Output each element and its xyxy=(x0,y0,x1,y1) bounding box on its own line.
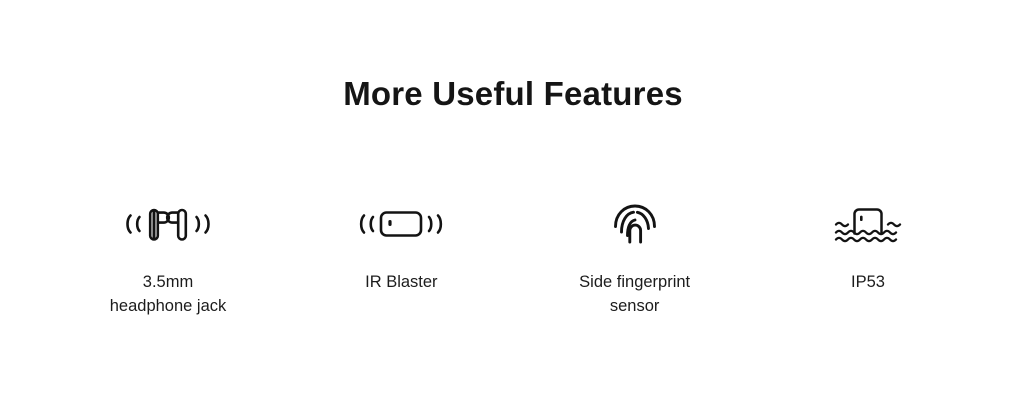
feature-highlights-section: More Useful Features xyxy=(0,0,1026,407)
feature-item-ip53: IP53 xyxy=(773,196,963,294)
fingerprint-icon xyxy=(610,196,660,252)
page-title: More Useful Features xyxy=(0,72,1026,116)
feature-item-ir-blaster: IR Blaster xyxy=(306,196,496,294)
earbuds-waves-icon xyxy=(118,196,218,252)
ir-blaster-remote-waves-icon xyxy=(356,196,446,252)
feature-list: 3.5mm headphone jack IR Blaster xyxy=(63,196,963,318)
feature-label: IP53 xyxy=(851,270,885,294)
feature-label: Side fingerprint sensor xyxy=(579,270,690,318)
feature-item-fingerprint: Side fingerprint sensor xyxy=(530,196,740,318)
phone-water-waves-icon xyxy=(832,196,904,252)
feature-item-headphone-jack: 3.5mm headphone jack xyxy=(63,196,273,318)
feature-label: IR Blaster xyxy=(365,270,437,294)
feature-label: 3.5mm headphone jack xyxy=(110,270,227,318)
